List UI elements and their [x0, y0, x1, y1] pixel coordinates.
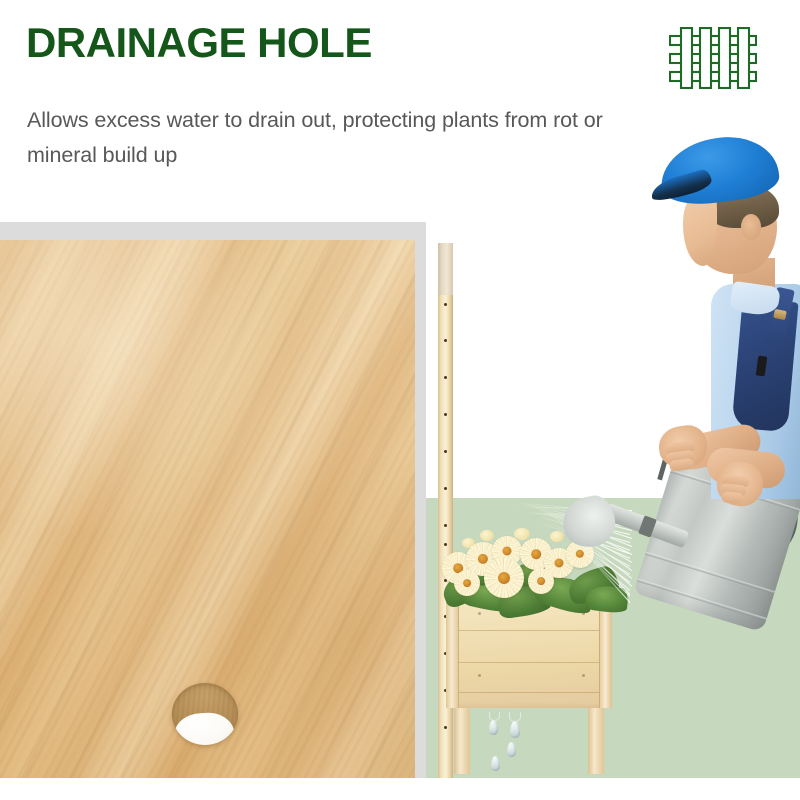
product-feature-card: DRAINAGE HOLE Allows excess water to dra…	[0, 0, 800, 800]
post-hole	[444, 376, 447, 379]
page-title: DRAINAGE HOLE	[26, 22, 372, 64]
planter-leg-right	[588, 708, 604, 774]
watering-can-rose	[558, 492, 619, 552]
wood-photo-frame	[0, 222, 426, 778]
water-drop	[489, 720, 498, 735]
water-drips	[485, 712, 555, 778]
gardener-ear	[741, 214, 761, 240]
water-drop	[510, 721, 520, 738]
fence-trellis-icon	[669, 27, 757, 89]
wood-closeup-photo	[0, 240, 415, 778]
water-drop	[507, 742, 516, 757]
post-hole	[444, 339, 447, 342]
water-drop	[491, 756, 500, 771]
post-hole	[444, 524, 447, 527]
drainage-hole	[172, 683, 238, 745]
post-hole	[444, 303, 447, 306]
post-hole	[444, 450, 447, 453]
planter-leg-left	[454, 708, 470, 774]
daisy-flower	[454, 570, 480, 596]
post-hole	[444, 487, 447, 490]
trellis-post-cap	[438, 243, 453, 295]
gardener-figure	[645, 138, 800, 533]
page-subtitle: Allows excess water to drain out, protec…	[27, 103, 607, 173]
post-hole	[444, 413, 447, 416]
